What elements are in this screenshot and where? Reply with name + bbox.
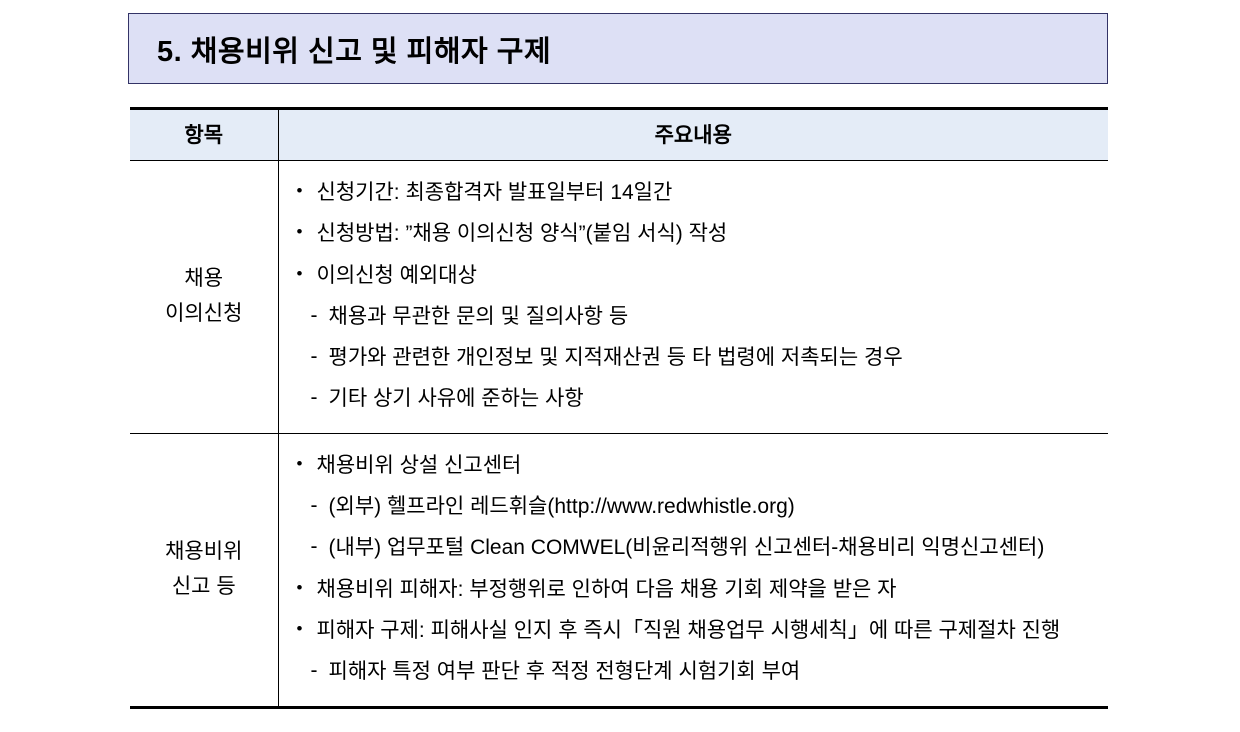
content-line-text: 채용비위 피해자: 부정행위로 인하여 다음 채용 기회 제약을 받은 자 bbox=[317, 576, 1109, 603]
content-subline: - 기타 상기 사유에 준하는 사항 bbox=[297, 378, 1109, 419]
column-header-content: 주요내용 bbox=[278, 109, 1108, 161]
table-header-row: 항목 주요내용 bbox=[130, 109, 1108, 161]
dash-icon: - bbox=[311, 534, 329, 560]
bullet-icon: • bbox=[297, 617, 317, 642]
content-subline: - (외부) 헬프라인 레드휘슬(http://www.redwhistle.o… bbox=[297, 486, 1109, 527]
row-label-recruitment-misconduct-report: 채용비위 신고 등 bbox=[130, 433, 278, 707]
table-row: 채용 이의신청 • 신청기간: 최종합격자 발표일부터 14일간 • 신청방법:… bbox=[130, 161, 1108, 434]
content-subline-text: 피해자 특정 여부 판단 후 적정 전형단계 시험기회 부여 bbox=[329, 658, 1109, 685]
row-content-recruitment-misconduct-report: • 채용비위 상설 신고센터 - (외부) 헬프라인 레드휘슬(http://w… bbox=[278, 433, 1108, 707]
content-line-text: 채용비위 상설 신고센터 bbox=[317, 452, 1109, 479]
dash-icon: - bbox=[311, 493, 329, 519]
dash-icon: - bbox=[311, 344, 329, 370]
content-subline: - 평가와 관련한 개인정보 및 지적재산권 등 타 법령에 저촉되는 경우 bbox=[297, 337, 1109, 378]
content-line: • 채용비위 피해자: 부정행위로 인하여 다음 채용 기회 제약을 받은 자 bbox=[297, 569, 1109, 610]
table-header: 항목 주요내용 bbox=[130, 109, 1108, 161]
table-row: 채용비위 신고 등 • 채용비위 상설 신고센터 - (외부) 헬프라인 레드휘… bbox=[130, 433, 1108, 707]
dash-icon: - bbox=[311, 658, 329, 684]
content-subline-text: 기타 상기 사유에 준하는 사항 bbox=[329, 385, 1109, 412]
column-header-item: 항목 bbox=[130, 109, 278, 161]
content-subline-text: (외부) 헬프라인 레드휘슬(http://www.redwhistle.org… bbox=[329, 493, 1109, 520]
table-body: 채용 이의신청 • 신청기간: 최종합격자 발표일부터 14일간 • 신청방법:… bbox=[130, 161, 1108, 708]
content-line: • 신청기간: 최종합격자 발표일부터 14일간 bbox=[297, 172, 1109, 213]
content-line: • 피해자 구제: 피해사실 인지 후 즉시「직원 채용업무 시행세칙」에 따른… bbox=[297, 610, 1109, 651]
bullet-icon: • bbox=[297, 179, 317, 204]
content-subline: - (내부) 업무포털 Clean COMWEL(비윤리적행위 신고센터-채용비… bbox=[297, 527, 1109, 568]
dash-icon: - bbox=[311, 385, 329, 411]
content-subline: - 피해자 특정 여부 판단 후 적정 전형단계 시험기회 부여 bbox=[297, 651, 1109, 692]
bullet-icon: • bbox=[297, 262, 317, 287]
content-line: • 신청방법: ”채용 이의신청 양식”(붙임 서식) 작성 bbox=[297, 213, 1109, 254]
row-label-recruitment-objection: 채용 이의신청 bbox=[130, 161, 278, 434]
dash-icon: - bbox=[311, 303, 329, 329]
content-line-text: 피해자 구제: 피해사실 인지 후 즉시「직원 채용업무 시행세칙」에 따른 구… bbox=[317, 617, 1109, 644]
content-line-text: 이의신청 예외대상 bbox=[317, 262, 1109, 289]
content-line-text: 신청방법: ”채용 이의신청 양식”(붙임 서식) 작성 bbox=[317, 220, 1109, 247]
content-subline-text: 평가와 관련한 개인정보 및 지적재산권 등 타 법령에 저촉되는 경우 bbox=[329, 344, 1109, 371]
content-line: • 채용비위 상설 신고센터 bbox=[297, 445, 1109, 486]
bullet-icon: • bbox=[297, 220, 317, 245]
content-subline-text: (내부) 업무포털 Clean COMWEL(비윤리적행위 신고센터-채용비리 … bbox=[329, 534, 1109, 561]
section-title: 5. 채용비위 신고 및 피해자 구제 bbox=[129, 28, 551, 70]
content-line: • 이의신청 예외대상 bbox=[297, 255, 1109, 296]
document-page: 5. 채용비위 신고 및 피해자 구제 항목 주요내용 채용 이의신청 • 신청… bbox=[0, 0, 1240, 732]
recruitment-remedy-table: 항목 주요내용 채용 이의신청 • 신청기간: 최종합격자 발표일부터 14일간… bbox=[130, 107, 1108, 709]
bullet-icon: • bbox=[297, 452, 317, 477]
bullet-icon: • bbox=[297, 576, 317, 601]
row-content-recruitment-objection: • 신청기간: 최종합격자 발표일부터 14일간 • 신청방법: ”채용 이의신… bbox=[278, 161, 1108, 434]
content-subline: - 채용과 무관한 문의 및 질의사항 등 bbox=[297, 296, 1109, 337]
section-banner: 5. 채용비위 신고 및 피해자 구제 bbox=[128, 13, 1108, 84]
content-subline-text: 채용과 무관한 문의 및 질의사항 등 bbox=[329, 303, 1109, 330]
content-line-text: 신청기간: 최종합격자 발표일부터 14일간 bbox=[317, 179, 1109, 206]
